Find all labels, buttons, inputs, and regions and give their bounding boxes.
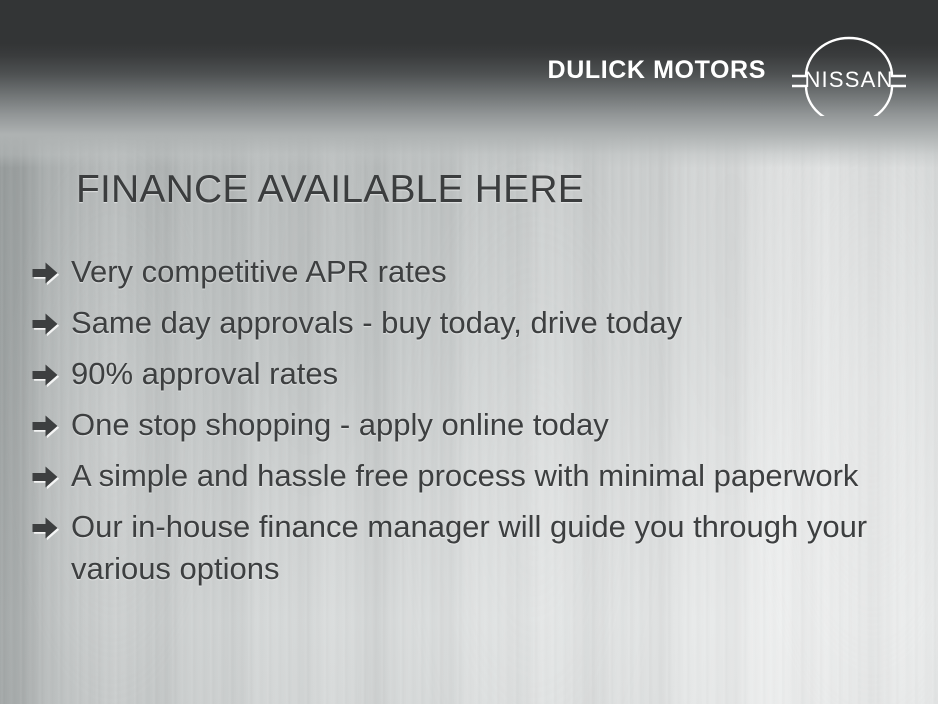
arrow-right-icon — [30, 410, 60, 442]
list-item: Same day approvals - buy today, drive to… — [30, 302, 916, 344]
list-item: A simple and hassle free process with mi… — [30, 455, 916, 497]
list-item-label: Our in-house finance manager will guide … — [71, 506, 916, 590]
list-item-label: A simple and hassle free process with mi… — [71, 455, 858, 497]
list-item: Very competitive APR rates — [30, 251, 916, 293]
list-item-label: One stop shopping - apply online today — [71, 404, 609, 446]
list-item-label: 90% approval rates — [71, 353, 338, 395]
benefits-list: Very competitive APR rates Same day appr… — [30, 251, 916, 599]
dealership-brand-name: DULICK MOTORS — [548, 56, 766, 85]
list-item: 90% approval rates — [30, 353, 916, 395]
list-item: Our in-house finance manager will guide … — [30, 506, 916, 590]
arrow-right-icon — [30, 512, 60, 544]
arrow-right-icon — [30, 308, 60, 340]
list-item: One stop shopping - apply online today — [30, 404, 916, 446]
arrow-right-icon — [30, 257, 60, 289]
list-item-label: Same day approvals - buy today, drive to… — [71, 302, 682, 344]
page-title: FINANCE AVAILABLE HERE — [76, 168, 584, 212]
svg-text:NISSAN: NISSAN — [804, 67, 893, 92]
arrow-right-icon — [30, 461, 60, 493]
arrow-right-icon — [30, 359, 60, 391]
finance-promo-slide: DULICK MOTORS NISSAN FINANCE AVAILABLE H… — [0, 0, 938, 704]
list-item-label: Very competitive APR rates — [71, 251, 447, 293]
slide-header: DULICK MOTORS NISSAN — [548, 24, 910, 116]
nissan-logo: NISSAN — [788, 24, 910, 116]
